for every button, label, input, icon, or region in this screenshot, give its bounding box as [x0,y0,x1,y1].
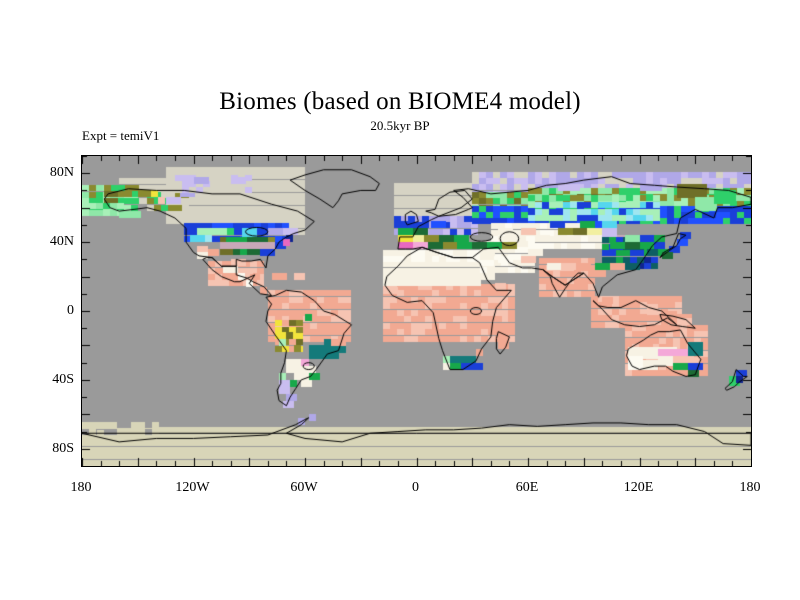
y-axis-labels: 80N40N040S80S [24,155,74,467]
y-axis-tick-label: 40S [28,372,74,388]
experiment-label: Expt = temiV1 [82,128,159,144]
y-axis-tick-label: 40N [28,234,74,250]
y-axis-tick-label: 80S [28,441,74,457]
biome-map-canvas [82,156,751,466]
x-axis-labels: 180120W60W060E120E180 [81,480,752,502]
x-axis-tick-label: 0 [381,480,451,496]
map-plot-area [81,155,752,467]
x-axis-tick-label: 180 [715,480,785,496]
x-axis-tick-label: 60W [269,480,339,496]
x-axis-tick-label: 120W [158,480,228,496]
x-axis-tick-label: 120E [604,480,674,496]
y-axis-tick-label: 80N [28,165,74,181]
x-axis-tick-label: 180 [46,480,116,496]
page-title: Biomes (based on BIOME4 model) [0,88,800,116]
x-axis-tick-label: 60E [492,480,562,496]
y-axis-tick-label: 0 [28,303,74,319]
